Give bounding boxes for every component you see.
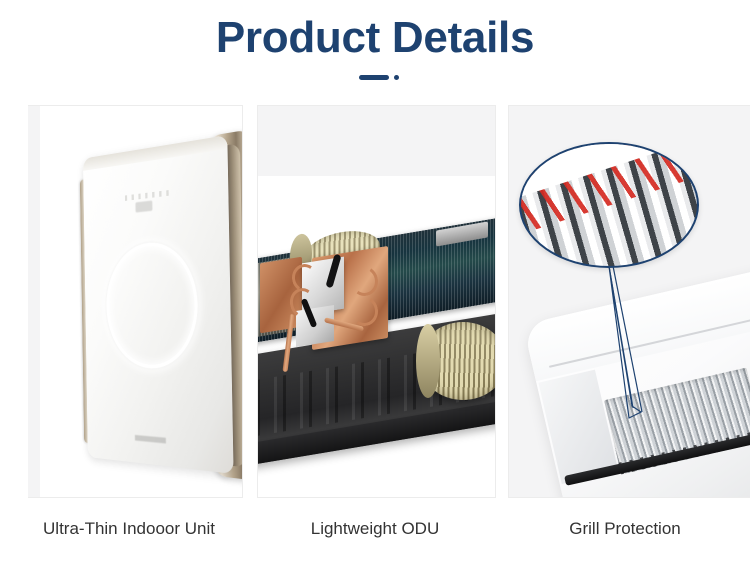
glowing-ring <box>105 239 198 370</box>
odu-cutaway <box>258 226 495 456</box>
decoration-dot-icon <box>394 75 399 80</box>
grill-protection-image <box>509 106 750 497</box>
indoor-unit-image <box>28 106 242 497</box>
product-card-lightweight-odu[interactable] <box>257 105 496 498</box>
product-details-page: Product Details <box>0 0 750 569</box>
decoration-bar-icon <box>359 75 389 80</box>
display-badge <box>135 200 152 212</box>
caption-lightweight-odu: Lightweight ODU <box>252 517 498 541</box>
indoor-unit-panel <box>82 129 238 481</box>
title-decoration <box>0 72 750 84</box>
brand-logo <box>135 435 166 444</box>
card-captions: Ultra-Thin Indooor Unit Lightweight ODU … <box>0 505 750 569</box>
odu-internals-image <box>258 106 495 497</box>
caption-grill-protection: Grill Protection <box>500 517 750 541</box>
caption-ultra-thin-indoor-unit: Ultra-Thin Indooor Unit <box>4 517 254 541</box>
product-card-ultra-thin-indoor-unit[interactable] <box>28 105 243 498</box>
product-cards-row <box>0 105 750 498</box>
page-title: Product Details <box>0 12 750 64</box>
unit-front-face <box>83 135 234 474</box>
grill-magnified-callout <box>519 142 699 268</box>
product-card-grill-protection[interactable] <box>508 105 750 498</box>
vent-dots <box>125 190 171 201</box>
header: Product Details <box>0 0 750 100</box>
